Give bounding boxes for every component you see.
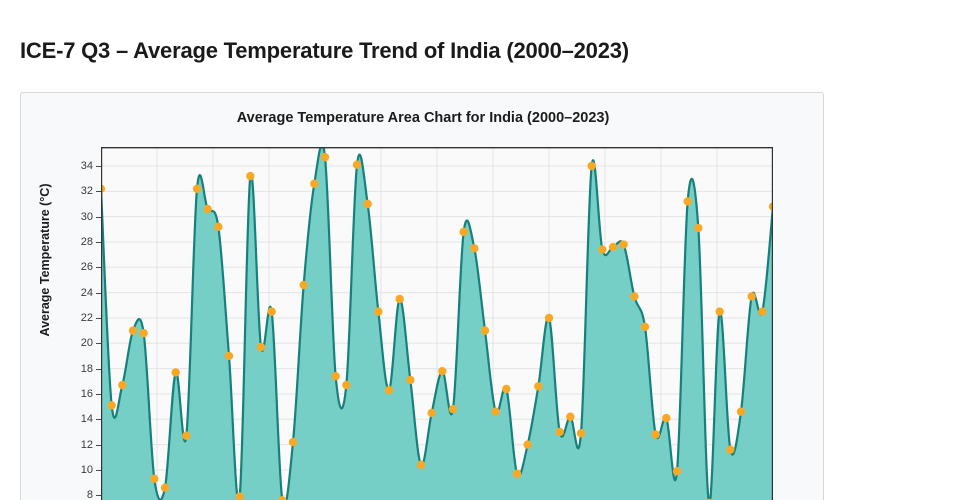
data-point-marker[interactable] xyxy=(609,243,617,251)
data-point-marker[interactable] xyxy=(502,385,510,393)
data-point-marker[interactable] xyxy=(427,409,435,417)
data-point-marker[interactable] xyxy=(630,292,638,300)
page-title: ICE-7 Q3 – Average Temperature Trend of … xyxy=(20,38,629,64)
data-point-marker[interactable] xyxy=(598,245,606,253)
y-axis-tick-label: 28 xyxy=(59,236,93,248)
data-point-marker[interactable] xyxy=(651,430,659,438)
y-axis-label: Average Temperature (°C) xyxy=(38,170,52,350)
data-point-marker[interactable] xyxy=(182,432,190,440)
y-axis-tick-label: 16 xyxy=(59,388,93,400)
data-point-marker[interactable] xyxy=(555,428,563,436)
data-point-marker[interactable] xyxy=(289,438,297,446)
data-point-marker[interactable] xyxy=(107,401,115,409)
data-point-marker[interactable] xyxy=(299,281,307,289)
data-point-marker[interactable] xyxy=(374,307,382,315)
data-point-marker[interactable] xyxy=(203,205,211,213)
data-point-marker[interactable] xyxy=(417,461,425,469)
screenshot-root: ICE-7 Q3 – Average Temperature Trend of … xyxy=(0,0,960,500)
y-axis-tick-label: 26 xyxy=(59,261,93,273)
data-point-marker[interactable] xyxy=(758,307,766,315)
data-point-marker[interactable] xyxy=(459,228,467,236)
data-point-marker[interactable] xyxy=(214,223,222,231)
data-point-marker[interactable] xyxy=(491,407,499,415)
data-point-marker[interactable] xyxy=(331,372,339,380)
data-point-marker[interactable] xyxy=(673,467,681,475)
y-axis-tick-label: 22 xyxy=(59,312,93,324)
data-point-marker[interactable] xyxy=(449,405,457,413)
y-axis-tick-label: 20 xyxy=(59,337,93,349)
area-chart-svg xyxy=(101,147,773,500)
data-point-marker[interactable] xyxy=(321,153,329,161)
data-point-marker[interactable] xyxy=(139,329,147,337)
data-point-marker[interactable] xyxy=(118,381,126,389)
data-point-marker[interactable] xyxy=(587,162,595,170)
y-axis-tick-label: 30 xyxy=(59,211,93,223)
data-point-marker[interactable] xyxy=(246,172,254,180)
data-point-marker[interactable] xyxy=(726,445,734,453)
data-point-marker[interactable] xyxy=(737,407,745,415)
data-point-marker[interactable] xyxy=(715,307,723,315)
y-axis-tick-label: 8 xyxy=(59,489,93,500)
data-point-marker[interactable] xyxy=(641,323,649,331)
area-chart-plot xyxy=(101,147,773,500)
y-axis-tick-label: 34 xyxy=(59,160,93,172)
data-point-marker[interactable] xyxy=(225,352,233,360)
data-point-marker[interactable] xyxy=(662,414,670,422)
data-point-marker[interactable] xyxy=(481,326,489,334)
data-point-marker[interactable] xyxy=(577,429,585,437)
data-point-marker[interactable] xyxy=(363,200,371,208)
data-point-marker[interactable] xyxy=(161,483,169,491)
data-point-marker[interactable] xyxy=(267,307,275,315)
data-point-marker[interactable] xyxy=(619,240,627,248)
y-axis-tick-label: 12 xyxy=(59,439,93,451)
data-point-marker[interactable] xyxy=(470,244,478,252)
data-point-marker[interactable] xyxy=(150,475,158,483)
data-point-marker[interactable] xyxy=(310,180,318,188)
data-point-marker[interactable] xyxy=(193,185,201,193)
data-point-marker[interactable] xyxy=(566,413,574,421)
data-point-marker[interactable] xyxy=(694,224,702,232)
data-point-marker[interactable] xyxy=(545,314,553,322)
data-point-marker[interactable] xyxy=(747,292,755,300)
chart-title: Average Temperature Area Chart for India… xyxy=(21,110,824,126)
data-point-marker[interactable] xyxy=(438,367,446,375)
data-point-marker[interactable] xyxy=(257,343,265,351)
data-point-marker[interactable] xyxy=(171,368,179,376)
data-point-marker[interactable] xyxy=(385,386,393,394)
y-axis-tick-label: 10 xyxy=(59,464,93,476)
y-axis-tick-label: 24 xyxy=(59,287,93,299)
data-point-marker[interactable] xyxy=(683,197,691,205)
data-point-marker[interactable] xyxy=(129,326,137,334)
data-point-marker[interactable] xyxy=(395,295,403,303)
y-axis-tick-label: 14 xyxy=(59,413,93,425)
data-point-marker[interactable] xyxy=(406,376,414,384)
y-axis-tick-label: 18 xyxy=(59,363,93,375)
data-point-marker[interactable] xyxy=(342,381,350,389)
y-axis-tick-label: 32 xyxy=(59,185,93,197)
data-point-marker[interactable] xyxy=(534,382,542,390)
data-point-marker[interactable] xyxy=(353,161,361,169)
chart-card: Average Temperature Area Chart for India… xyxy=(20,92,824,500)
data-point-marker[interactable] xyxy=(513,470,521,478)
data-point-marker[interactable] xyxy=(523,440,531,448)
